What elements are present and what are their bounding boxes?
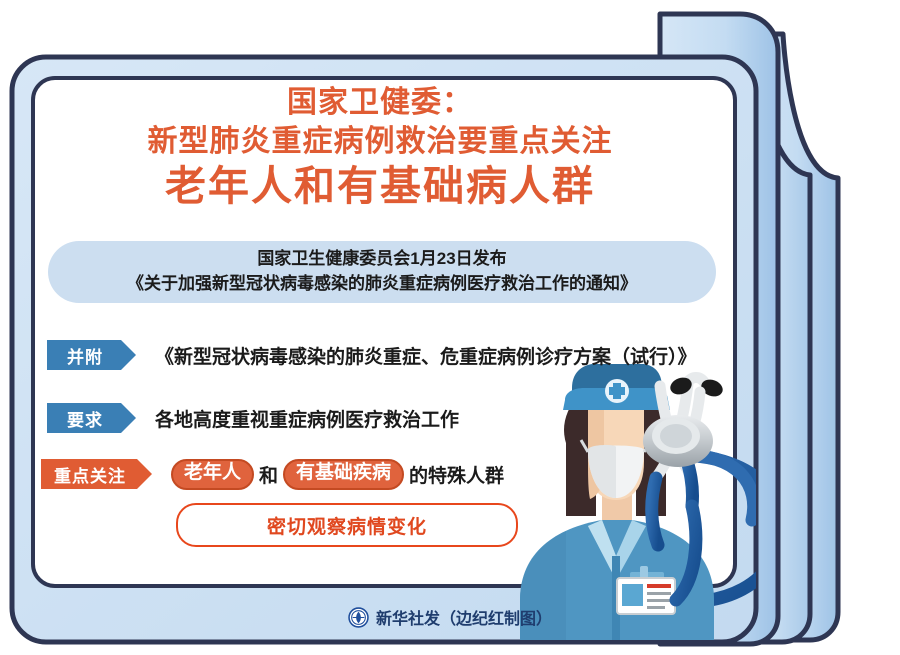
focus-suffix: 的特殊人群 — [409, 461, 504, 488]
row-focus-text: 老年人 和 有基础疾病 的特殊人群 — [171, 459, 509, 490]
title-line-2: 新型肺炎重症病例救治要重点关注 — [60, 125, 700, 159]
row-attachment: 并附 《新型冠状病毒感染的肺炎重症、危重症病例诊疗方案（试行）》 — [47, 340, 697, 370]
subtitle-banner: 国家卫生健康委员会1月23日发布 《关于加强新型冠状病毒感染的肺炎重症病例医疗救… — [48, 241, 716, 303]
subtitle-line-2: 《关于加强新型冠状病毒感染的肺炎重症病例医疗救治工作的通知》 — [127, 272, 637, 297]
tag-attachment: 并附 — [47, 340, 121, 370]
pill-chronic-disease: 有基础疾病 — [283, 459, 404, 490]
content-layer: 国家卫健委： 新型肺炎重症病例救治要重点关注 老年人和有基础病人群 国家卫生健康… — [0, 0, 900, 655]
focus-conjunction: 和 — [259, 461, 278, 488]
observation-pill: 密切观察病情变化 — [176, 503, 518, 547]
row-requirement: 要求 各地高度重视重症病例医疗救治工作 — [47, 403, 459, 433]
footer-credit: 新华社发（边纪红制图） — [0, 605, 900, 629]
row-attachment-text: 《新型冠状病毒感染的肺炎重症、危重症病例诊疗方案（试行）》 — [155, 342, 697, 369]
row-focus: 重点关注 老年人 和 有基础疾病 的特殊人群 — [41, 459, 509, 490]
tag-requirement: 要求 — [47, 403, 121, 433]
xinhua-logo-icon — [348, 607, 369, 628]
page-title: 国家卫健委： 新型肺炎重症病例救治要重点关注 老年人和有基础病人群 — [60, 86, 700, 210]
row-requirement-text: 各地高度重视重症病例医疗救治工作 — [155, 405, 459, 432]
title-line-1: 国家卫健委： — [60, 86, 700, 120]
tag-focus: 重点关注 — [41, 459, 137, 489]
pill-elderly: 老年人 — [171, 459, 254, 490]
footer-credit-text: 新华社发（边纪红制图） — [376, 605, 552, 629]
title-line-3: 老年人和有基础病人群 — [60, 164, 700, 210]
subtitle-line-1: 国家卫生健康委员会1月23日发布 — [257, 247, 506, 272]
